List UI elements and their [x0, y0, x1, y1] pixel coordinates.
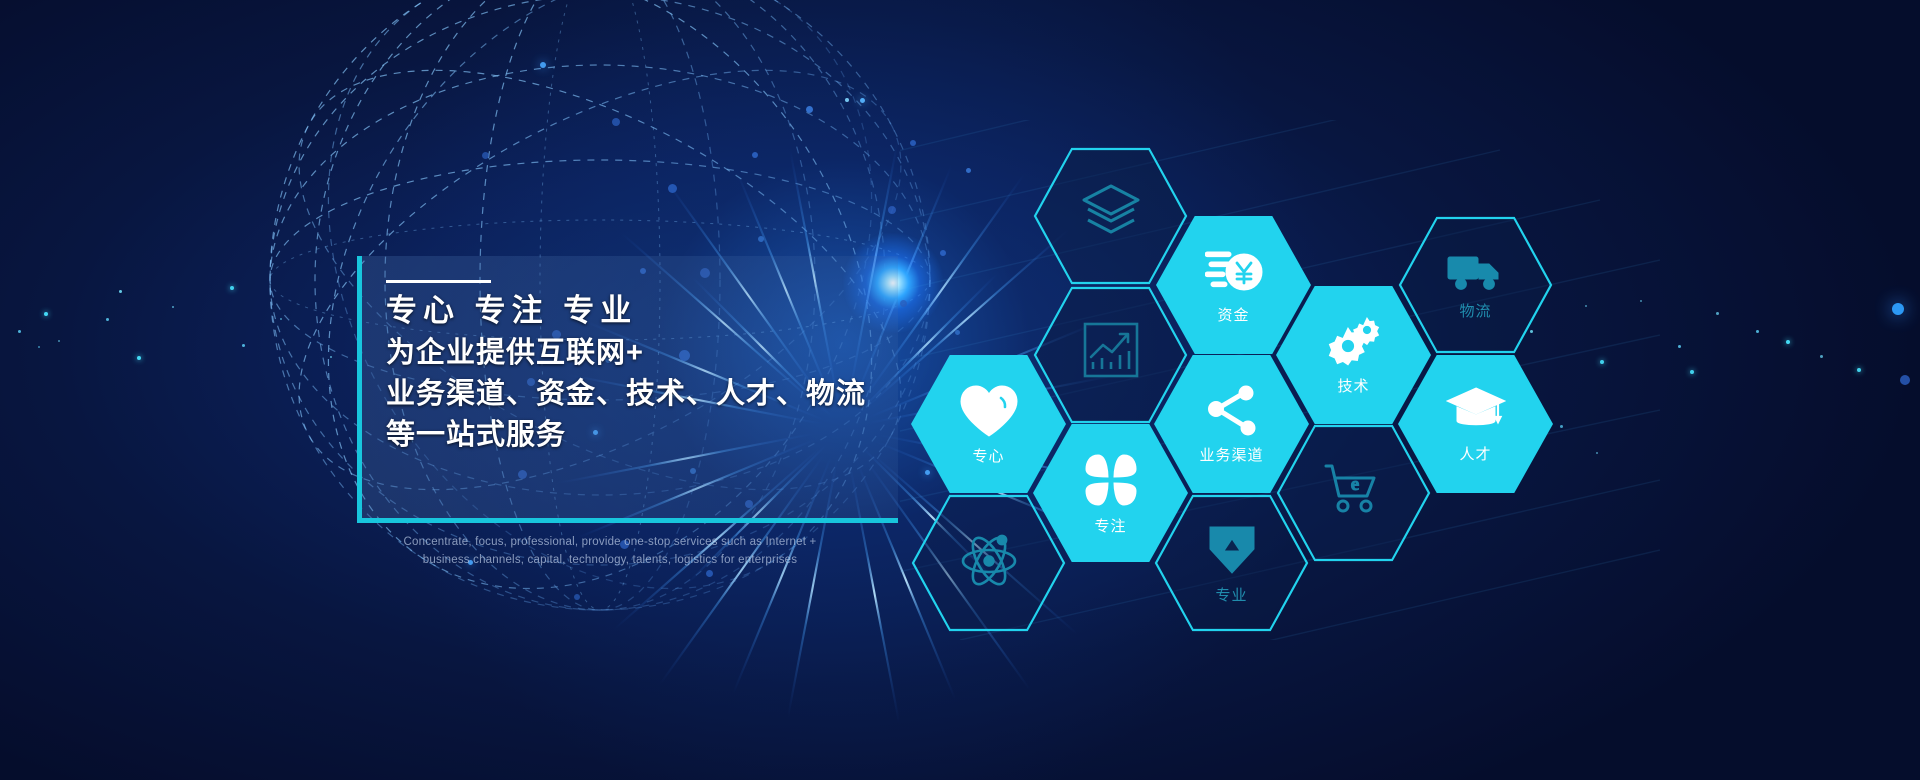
share-nodes-icon [1204, 385, 1260, 442]
banner-stage: 专心 专注 专业 为企业提供互联网+ 业务渠道、资金、技术、人才、物流 等一站式… [0, 0, 1920, 780]
graduation-cap-icon [1446, 386, 1506, 441]
hex-label: 业务渠道 [1199, 448, 1263, 463]
hex-outline-border [1154, 494, 1309, 632]
gears-icon [1326, 316, 1382, 373]
hex-label: 技术 [1337, 379, 1369, 394]
hex-label: 资金 [1217, 308, 1249, 323]
hex-label: 人才 [1459, 447, 1491, 462]
hex-label: 专注 [1094, 519, 1126, 534]
hex-cell-pro[interactable]: 专业 [1154, 494, 1309, 632]
hex-cell-atom[interactable] [911, 494, 1066, 632]
hex-outline-border [911, 494, 1066, 632]
money-yen-icon [1205, 247, 1263, 302]
hex-label: 专心 [972, 449, 1004, 464]
heart-icon [958, 384, 1020, 443]
hexagon-cluster: 资金 物流 [0, 0, 1920, 780]
clover-icon [1083, 452, 1139, 513]
